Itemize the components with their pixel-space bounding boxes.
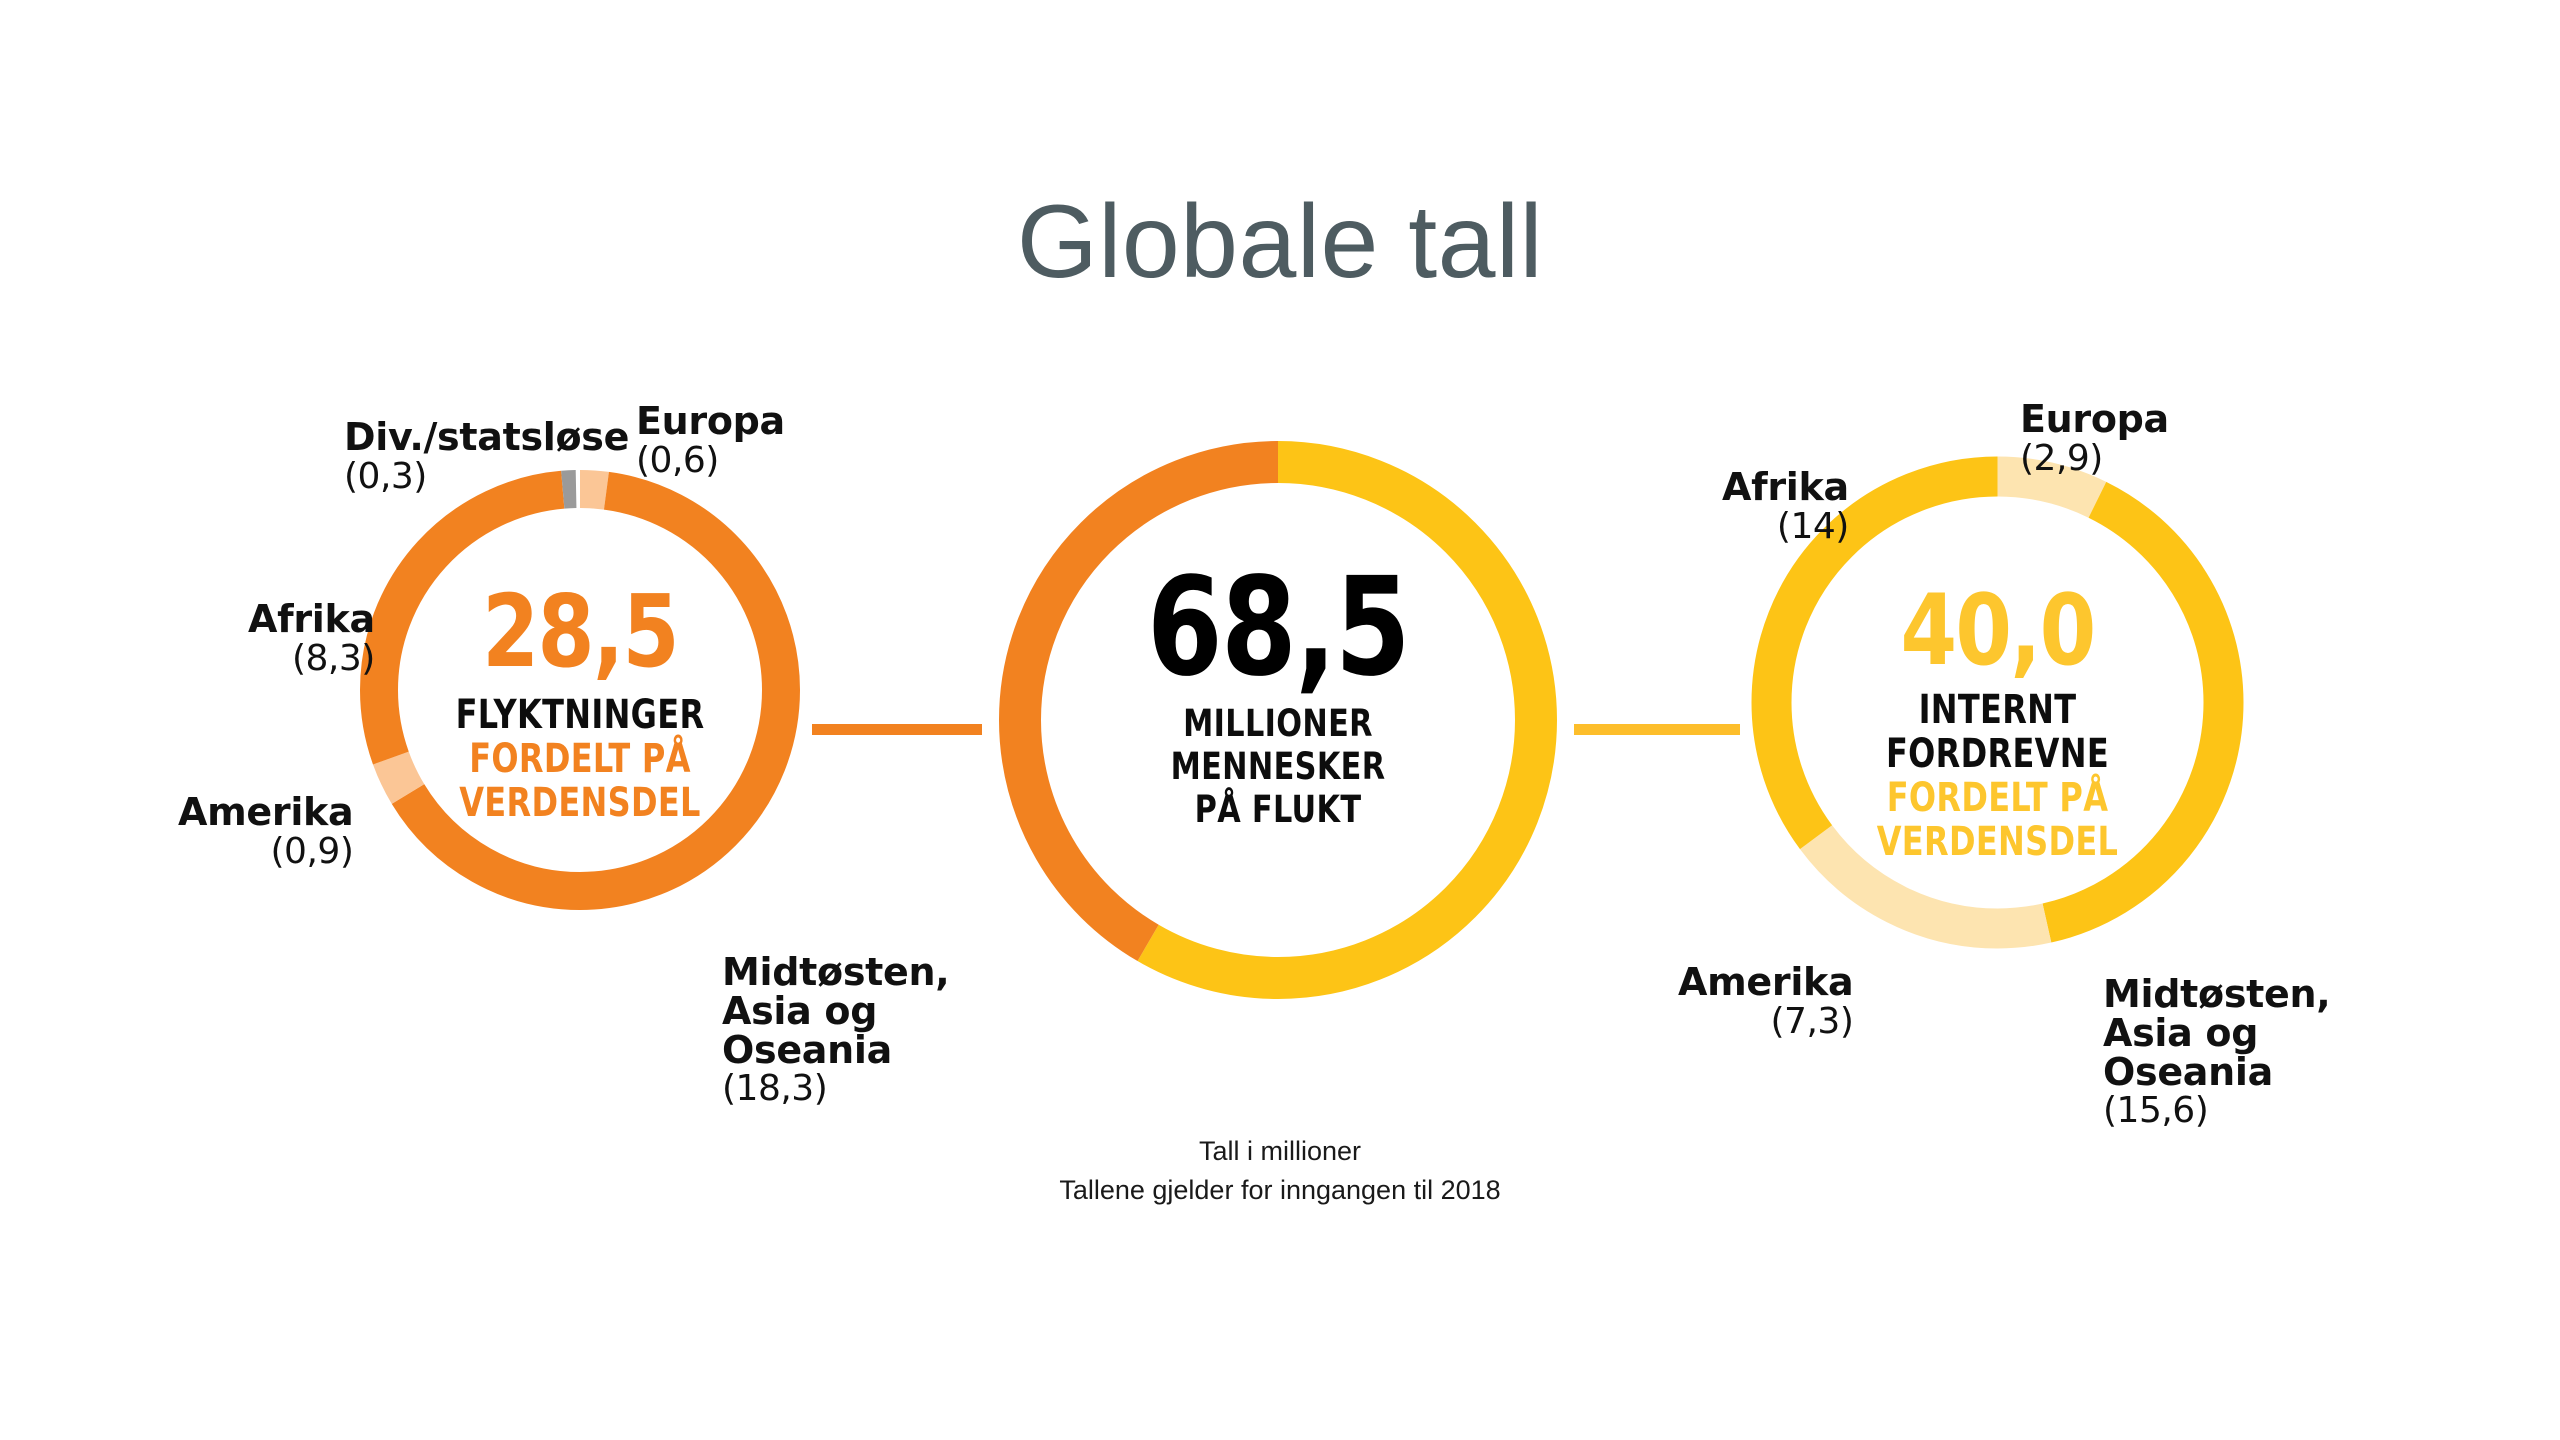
label-left-amerika-value: (0,9) — [178, 834, 353, 871]
donut-center-value: 68,5 — [1038, 560, 1518, 696]
donut-right-caption-sub-1: FORDELT PÅ — [1788, 778, 2208, 818]
label-right-europa: Europa (2,9) — [2020, 400, 2169, 477]
connector-center-right — [1574, 724, 1740, 735]
label-right-amerika: Amerika (7,3) — [1678, 963, 1853, 1040]
donut-left-caption-main: FLYKTNINGER — [392, 695, 768, 735]
label-right-europa-name: Europa — [2020, 400, 2169, 439]
label-left-europa: Europa (0,6) — [636, 402, 785, 479]
label-left-midtosten-line-1: Midtøsten, — [722, 953, 949, 992]
donut-right-center-text: 40,0 INTERNT FORDREVNE FORDELT PÅ VERDEN… — [1735, 582, 2260, 862]
label-left-midtosten-line-2: Asia og — [722, 992, 949, 1031]
label-left-amerika-name: Amerika — [178, 793, 353, 832]
label-right-midtosten-asia-oseania: Midtøsten, Asia og Oseania (15,6) — [2103, 975, 2330, 1130]
label-left-afrika-name: Afrika — [248, 600, 375, 639]
donut-right-value: 40,0 — [1780, 582, 2216, 680]
label-left-div-statslose-value: (0,3) — [344, 459, 629, 496]
label-right-midtosten-value: (15,6) — [2103, 1093, 2330, 1130]
label-left-div-statslose-name: Div./statsløse — [344, 418, 629, 457]
label-right-midtosten-line-3: Oseania — [2103, 1053, 2330, 1092]
footnote: Tall i millioner Tallene gjelder for inn… — [930, 1132, 1630, 1210]
label-left-afrika-value: (8,3) — [248, 641, 375, 678]
label-left-div-statslose: Div./statsløse (0,3) — [344, 418, 629, 495]
donut-left-caption-sub-2: VERDENSDEL — [392, 783, 768, 823]
donut-center-caption-3: PÅ FLUKT — [1032, 791, 1524, 828]
donut-center-caption-1: MILLIONER — [1032, 705, 1524, 742]
label-left-midtosten-line-3: Oseania — [722, 1031, 949, 1070]
label-right-afrika-name: Afrika — [1722, 468, 1849, 507]
donut-left-caption-sub-1: FORDELT PÅ — [392, 739, 768, 779]
label-left-midtosten-value: (18,3) — [722, 1071, 949, 1108]
infographic-canvas: Globale tall 28,5 FLYKTNINGER FORDELT PÅ — [0, 0, 2560, 1440]
donut-right-caption-sub-2: VERDENSDEL — [1788, 822, 2208, 862]
label-right-amerika-name: Amerika — [1678, 963, 1853, 1002]
label-left-europa-name: Europa — [636, 402, 785, 441]
donut-right-caption-main-2: FORDREVNE — [1788, 734, 2208, 774]
donut-left-value: 28,5 — [387, 582, 772, 682]
donut-center-center-text: 68,5 MILLIONER MENNESKER PÅ FLUKT — [978, 560, 1578, 828]
connector-left-center — [812, 724, 982, 735]
footnote-line-1: Tall i millioner — [930, 1132, 1630, 1171]
label-right-europa-value: (2,9) — [2020, 441, 2169, 478]
label-right-midtosten-line-2: Asia og — [2103, 1014, 2330, 1053]
donut-right-caption-main-1: INTERNT — [1788, 690, 2208, 730]
page-title: Globale tall — [0, 190, 2560, 294]
label-right-midtosten-line-1: Midtøsten, — [2103, 975, 2330, 1014]
label-left-midtosten-asia-oseania: Midtøsten, Asia og Oseania (18,3) — [722, 953, 949, 1108]
label-right-afrika-value: (14) — [1722, 509, 1849, 546]
donut-center-caption-2: MENNESKER — [1032, 748, 1524, 785]
label-right-afrika: Afrika (14) — [1722, 468, 1849, 545]
donut-left-center-text: 28,5 FLYKTNINGER FORDELT PÅ VERDENSDEL — [345, 582, 815, 823]
label-left-europa-value: (0,6) — [636, 443, 785, 480]
label-right-amerika-value: (7,3) — [1678, 1004, 1853, 1041]
label-left-amerika: Amerika (0,9) — [178, 793, 353, 870]
label-left-afrika: Afrika (8,3) — [248, 600, 375, 677]
footnote-line-2: Tallene gjelder for inngangen til 2018 — [930, 1171, 1630, 1210]
